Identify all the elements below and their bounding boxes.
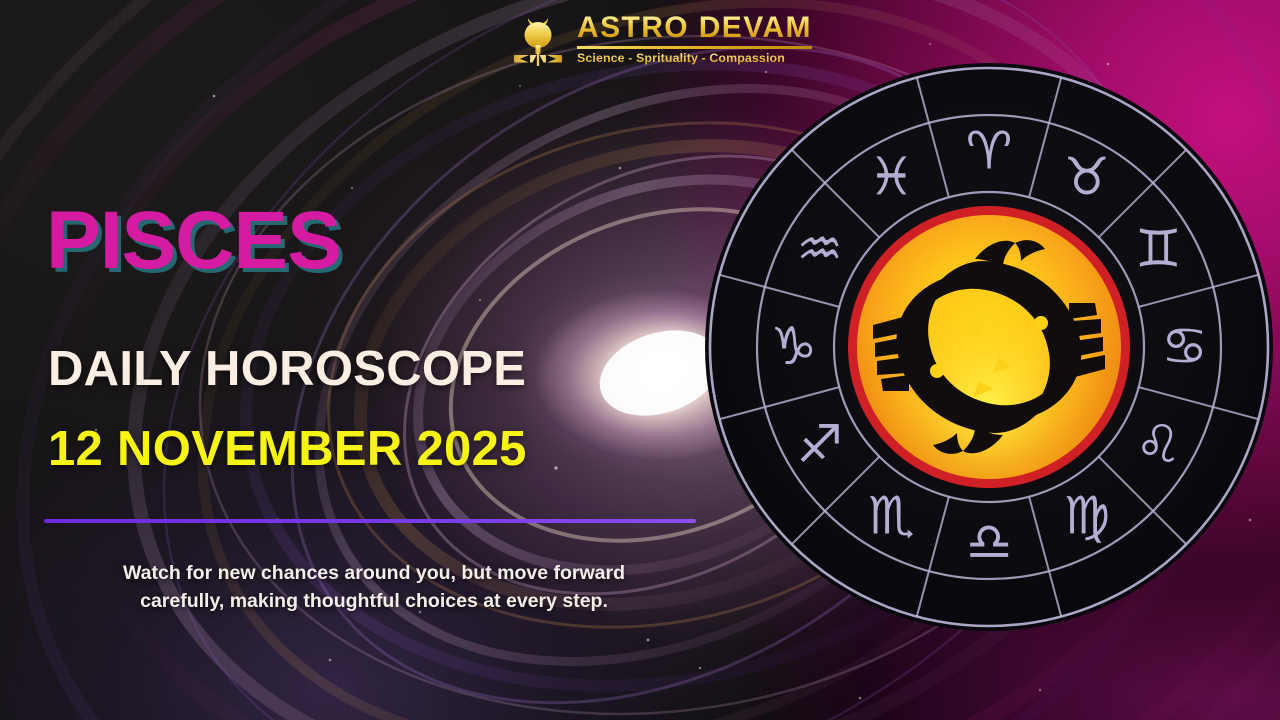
zodiac-glyph-leo[interactable]: ♌ bbox=[1135, 415, 1182, 475]
brand-logo-text: ASTRO DEVAM Science - Sprituality - Comp… bbox=[577, 13, 812, 65]
kalash-crescent-icon bbox=[510, 8, 566, 70]
zodiac-sign-title: PISCES bbox=[46, 200, 341, 282]
brand-logo[interactable]: ASTRO DEVAM Science - Sprituality - Comp… bbox=[510, 8, 812, 70]
zodiac-glyph-capricorn[interactable]: ♑ bbox=[770, 317, 817, 377]
zodiac-glyph-taurus[interactable]: ♉ bbox=[1063, 148, 1110, 208]
zodiac-wheel-svg: ♈♉♊♋♌♍♎♏♐♑♒♓ bbox=[704, 62, 1274, 632]
blurb-line-1: Watch for new chances around you, but mo… bbox=[40, 560, 708, 588]
horoscope-date: 12 NOVEMBER 2025 bbox=[48, 425, 527, 474]
zodiac-glyph-aquarius[interactable]: ♒ bbox=[796, 219, 843, 279]
zodiac-glyph-aries[interactable]: ♈ bbox=[966, 122, 1013, 182]
zodiac-glyph-scorpio[interactable]: ♏ bbox=[868, 486, 915, 546]
section-divider bbox=[44, 519, 696, 523]
zodiac-glyph-cancer[interactable]: ♋ bbox=[1161, 317, 1208, 377]
blurb-line-2: carefully, making thoughtful choices at … bbox=[40, 588, 708, 616]
brand-rule bbox=[577, 46, 812, 49]
zodiac-glyph-pisces[interactable]: ♓ bbox=[868, 148, 915, 208]
brand-tagline: Science - Sprituality - Compassion bbox=[577, 51, 812, 65]
horoscope-blurb: Watch for new chances around you, but mo… bbox=[40, 560, 708, 615]
zodiac-glyph-sagittarius[interactable]: ♐ bbox=[796, 415, 843, 475]
page-title: DAILY HOROSCOPE bbox=[48, 345, 526, 394]
zodiac-glyph-gemini[interactable]: ♊ bbox=[1135, 219, 1182, 279]
horoscope-poster: ASTRO DEVAM Science - Sprituality - Comp… bbox=[0, 0, 1280, 720]
zodiac-wheel[interactable]: ♈♉♊♋♌♍♎♏♐♑♒♓ bbox=[704, 62, 1274, 632]
zodiac-glyph-virgo[interactable]: ♍ bbox=[1063, 486, 1110, 546]
brand-name: ASTRO DEVAM bbox=[577, 13, 812, 44]
zodiac-glyph-libra[interactable]: ♎ bbox=[966, 513, 1013, 573]
